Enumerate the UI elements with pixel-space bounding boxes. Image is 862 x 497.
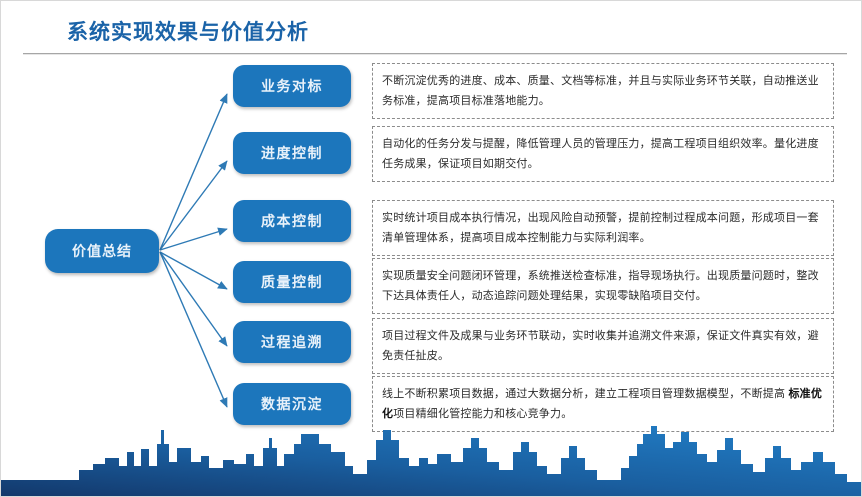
description-box-4: 实现质量安全问题闭环管理，系统推送检查标准，指导现场执行。出现质量问题时，整改下…: [372, 258, 834, 314]
title-divider: [23, 53, 847, 55]
node-box-3[interactable]: 成本控制: [233, 200, 351, 242]
node-label-4: 质量控制: [261, 272, 323, 292]
node-label-2: 进度控制: [261, 143, 323, 163]
node-box-1[interactable]: 业务对标: [233, 65, 351, 107]
arrow-to-node-6: [160, 252, 227, 407]
arrow-to-node-2: [160, 161, 227, 250]
node-box-4[interactable]: 质量控制: [233, 261, 351, 303]
page-title: 系统实现效果与价值分析: [67, 16, 309, 46]
description-box-3: 实时统计项目成本执行情况，出现风险自动预警，提前控制过程成本问题，形成项目一套清…: [372, 200, 834, 256]
arrow-to-node-4: [160, 252, 227, 289]
slide-header: 系统实现效果与价值分析: [1, 1, 862, 59]
arrow-to-node-1: [160, 94, 227, 250]
node-label-5: 过程追溯: [261, 332, 323, 352]
node-box-5[interactable]: 过程追溯: [233, 321, 351, 363]
node-label-1: 业务对标: [261, 76, 323, 96]
city-skyline-silhouette: [1, 418, 862, 496]
description-box-1: 不断沉淀优秀的进度、成本、质量、文档等标准，并且与实际业务环节关联，自动推送业务…: [372, 63, 834, 119]
hub-value-summary[interactable]: 价值总结: [45, 229, 159, 273]
description-box-5: 项目过程文件及成果与业务环节联动，实时收集并追溯文件来源，保证文件真实有效，避免…: [372, 318, 834, 374]
description-text-1: 不断沉淀优秀的进度、成本、质量、文档等标准，并且与实际业务环节关联，自动推送业务…: [382, 75, 819, 107]
description-text-2: 自动化的任务分发与提醒，降低管理人员的管理压力，提高工程项目组织效率。量化进度任…: [382, 138, 819, 170]
description-box-2: 自动化的任务分发与提醒，降低管理人员的管理压力，提高工程项目组织效率。量化进度任…: [372, 126, 834, 182]
arrow-to-node-3: [160, 229, 227, 250]
node-box-2[interactable]: 进度控制: [233, 132, 351, 174]
slide-canvas: 系统实现效果与价值分析 价值总结 业务对标 不断沉淀优秀的进度、成本、质量、文档…: [0, 0, 862, 497]
arrow-to-node-5: [160, 252, 227, 346]
node-label-3: 成本控制: [261, 211, 323, 231]
hub-label: 价值总结: [72, 241, 132, 261]
description-text-4: 实现质量安全问题闭环管理，系统推送检查标准，指导现场执行。出现质量问题时，整改下…: [382, 270, 819, 302]
description-text-6a: 线上不断积累项目数据，通过大数据分析，建立工程项目管理数据模型，不断提高: [382, 388, 788, 400]
node-label-6: 数据沉淀: [261, 394, 323, 414]
description-text-5: 项目过程文件及成果与业务环节联动，实时收集并追溯文件来源，保证文件真实有效，避免…: [382, 330, 819, 362]
description-text-3: 实时统计项目成本执行情况，出现风险自动预警，提前控制过程成本问题，形成项目一套清…: [382, 212, 819, 244]
